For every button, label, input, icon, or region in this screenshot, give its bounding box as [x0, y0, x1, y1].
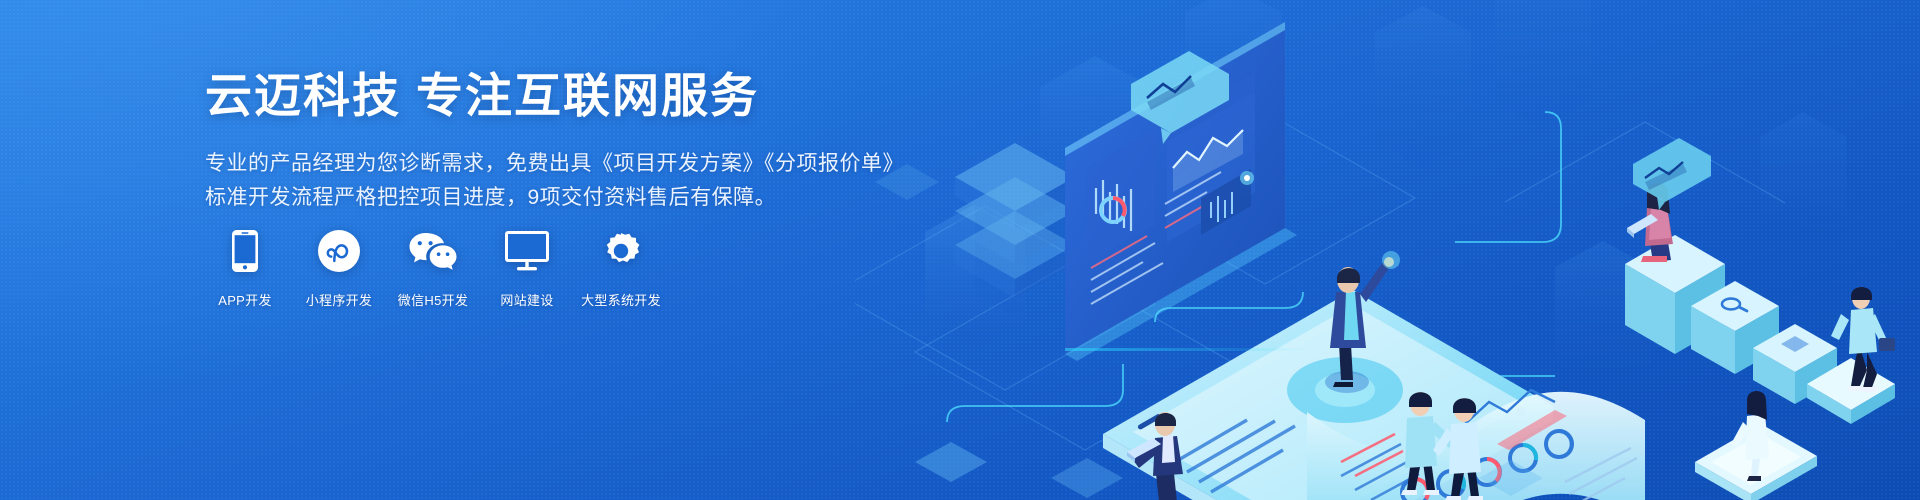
service-label: 大型系统开发	[581, 290, 661, 309]
page-title: 云迈科技 专注互联网服务	[205, 68, 965, 123]
service-label: 小程序开发	[306, 290, 373, 309]
service-label: 微信H5开发	[398, 290, 468, 309]
service-list: APP开发 小程序开发	[205, 228, 675, 309]
service-item-large-system[interactable]: 大型系统开发	[581, 228, 661, 309]
monitor-icon	[505, 228, 549, 274]
gear-icon	[600, 228, 642, 274]
service-label: APP开发	[218, 290, 272, 309]
wechat-icon	[408, 228, 458, 274]
banner-copy: 云迈科技 专注互联网服务 专业的产品经理为您诊断需求，免费出具《项目开发方案》《…	[205, 68, 965, 215]
service-item-wechat-h5[interactable]: 微信H5开发	[393, 228, 473, 309]
isometric-tech-illustration	[855, 0, 1920, 500]
banner-subtitle: 专业的产品经理为您诊断需求，免费出具《项目开发方案》《分项报价单》 标准开发流程…	[205, 147, 965, 215]
small-chart-bubble	[1633, 138, 1711, 210]
service-item-mini-program[interactable]: 小程序开发	[299, 228, 379, 309]
subtitle-line-2: 标准开发流程严格把控项目进度，9项交付资料售后有保障。	[205, 181, 965, 215]
mini-program-icon	[318, 228, 360, 274]
promo-banner: 云迈科技 专注互联网服务 专业的产品经理为您诊断需求，免费出具《项目开发方案》《…	[0, 0, 1920, 500]
service-item-app[interactable]: APP开发	[205, 228, 285, 309]
subtitle-line-1: 专业的产品经理为您诊断需求，免费出具《项目开发方案》《分项报价单》	[205, 147, 965, 181]
mobile-phone-icon	[232, 228, 258, 274]
service-item-website[interactable]: 网站建设	[487, 228, 567, 309]
service-label: 网站建设	[500, 290, 553, 309]
